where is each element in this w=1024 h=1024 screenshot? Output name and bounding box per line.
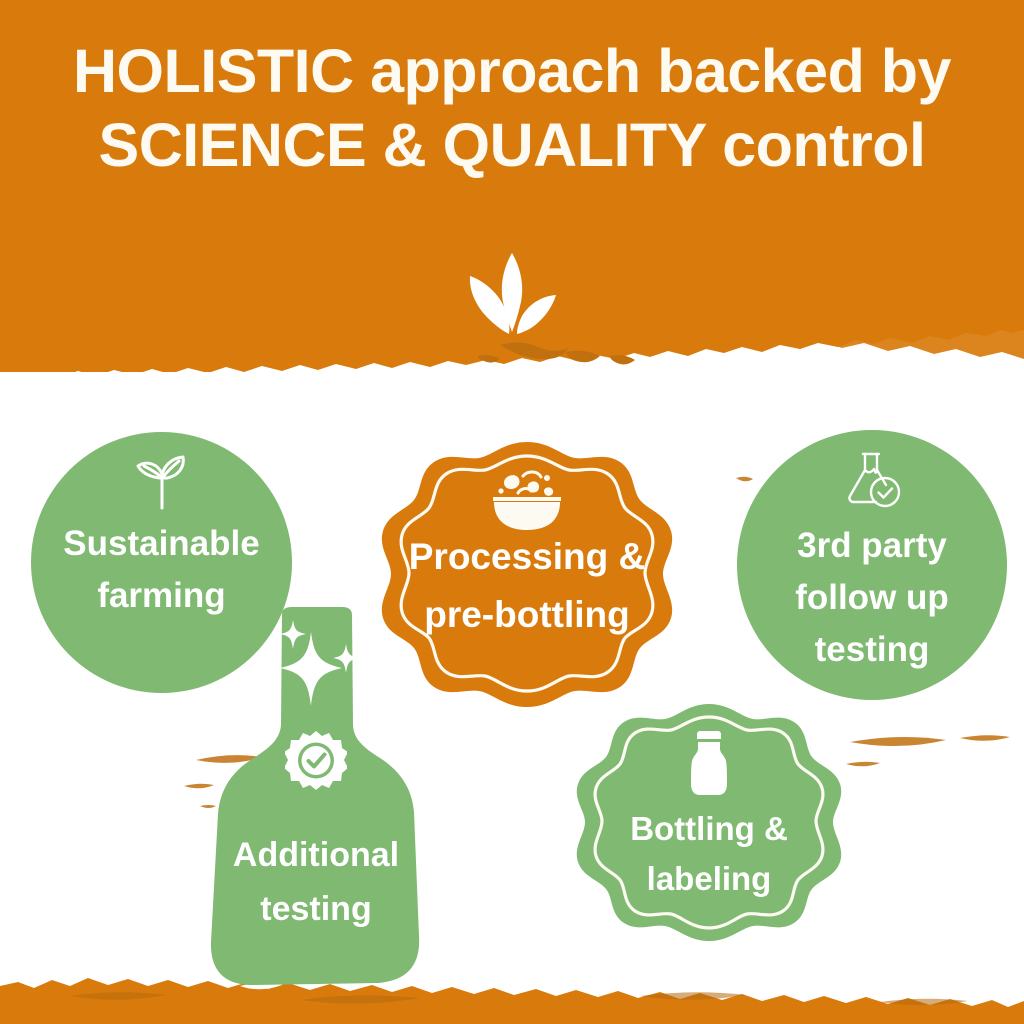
footer-band-shape [0,952,1024,1024]
label-line: Bottling & [571,804,847,854]
label-line: testing [196,882,436,936]
third-party-testing-label: 3rd party follow up testing [737,520,1007,676]
label-line: Sustainable [31,518,292,570]
infographic-canvas: HOLISTIC approach backed by SCIENCE & QU… [0,0,1024,1024]
page-title: HOLISTIC approach backed by SCIENCE & QU… [0,34,1024,182]
label-line: Additional [196,828,436,882]
mixing-bowl-glyph [490,468,564,530]
milk-bottle-icon [687,730,731,796]
label-line: Processing & [372,528,682,586]
sprout-glyph [131,454,193,510]
milk-bottle-glyph [687,730,731,796]
certified-seal-glyph [285,730,347,792]
label-line: labeling [571,854,847,904]
label-line: pre-bottling [372,586,682,644]
bottling-label: Bottling & labeling [571,804,847,904]
flask-check-icon [842,450,902,510]
title-line-2: SCIENCE & QUALITY control [0,108,1024,182]
sparkles-icon [266,618,366,710]
additional-testing-label: Additional testing [196,828,436,936]
certified-seal-check-icon [285,730,347,792]
sparkles-glyph [266,618,366,710]
processing-label: Processing & pre-bottling [372,528,682,644]
label-line: follow up [737,572,1007,624]
mixing-bowl-icon [490,468,564,530]
node-bottling-labeling[interactable]: Bottling & labeling [571,702,847,972]
label-line: testing [737,624,1007,676]
label-line: 3rd party [737,520,1007,572]
flask-check-glyph [842,450,902,510]
sprout-icon [131,454,193,510]
footer-band [0,952,1024,1024]
leaf-sprig-icon [458,252,566,338]
leaf-sprig-glyph [458,252,566,338]
node-processing-pre-bottling[interactable]: Processing & pre-bottling [372,440,682,740]
node-third-party-testing[interactable]: 3rd party follow up testing [737,430,1007,700]
title-line-1: HOLISTIC approach backed by [0,34,1024,108]
